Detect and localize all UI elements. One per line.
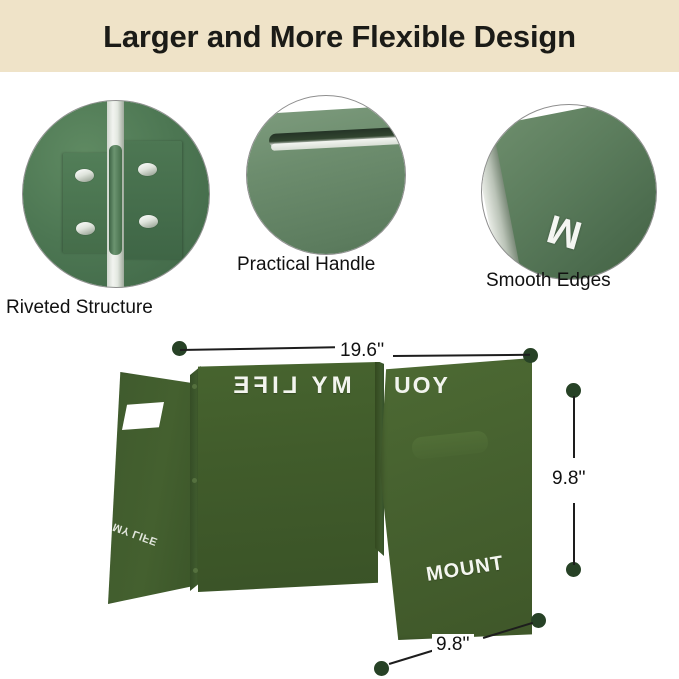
dimension-label-width: 19.6'' — [336, 340, 388, 362]
panel-right-stencil-text: YOU — [392, 372, 448, 399]
page-title: Larger and More Flexible Design — [0, 19, 679, 55]
feature-label-riveted: Riveted Structure — [6, 297, 153, 319]
product-photo: MY LIFE YOU MY LIFE — [0, 330, 679, 679]
rivet-icon — [76, 222, 95, 235]
hinge-plate-right — [116, 141, 182, 259]
dimension-label-depth: 9.8'' — [432, 634, 474, 656]
feature-label-handle: Practical Handle — [237, 254, 375, 276]
feature-label-edges: Smooth Edges — [486, 270, 611, 292]
hinge-pin-icon — [192, 478, 197, 483]
handle-slot-closeup-icon — [246, 95, 406, 255]
hinge-pin-icon — [193, 568, 198, 573]
hinge-knuckle — [109, 145, 122, 255]
infographic-stage: Larger and More Flexible Design Riveted … — [0, 0, 679, 679]
dimension-label-height: 9.8'' — [548, 468, 590, 490]
rivet-icon — [139, 215, 158, 228]
handle-cutout-icon — [122, 402, 164, 430]
hinge-pin-icon — [192, 384, 197, 389]
product-panel-right — [380, 358, 532, 640]
rivet-icon — [138, 163, 157, 176]
hinge-closeup-icon — [22, 100, 210, 288]
dimension-line-height-top — [573, 396, 575, 458]
panel-center-stencil-text: MY LIFE — [208, 372, 373, 400]
rivet-icon — [75, 169, 94, 182]
dimension-endpoint-dot — [523, 348, 538, 363]
dimension-endpoint-dot — [531, 613, 546, 628]
dimension-line-height-bottom — [573, 503, 575, 565]
rounded-edge-closeup-icon: M — [481, 104, 657, 280]
dimension-endpoint-dot — [374, 661, 389, 676]
